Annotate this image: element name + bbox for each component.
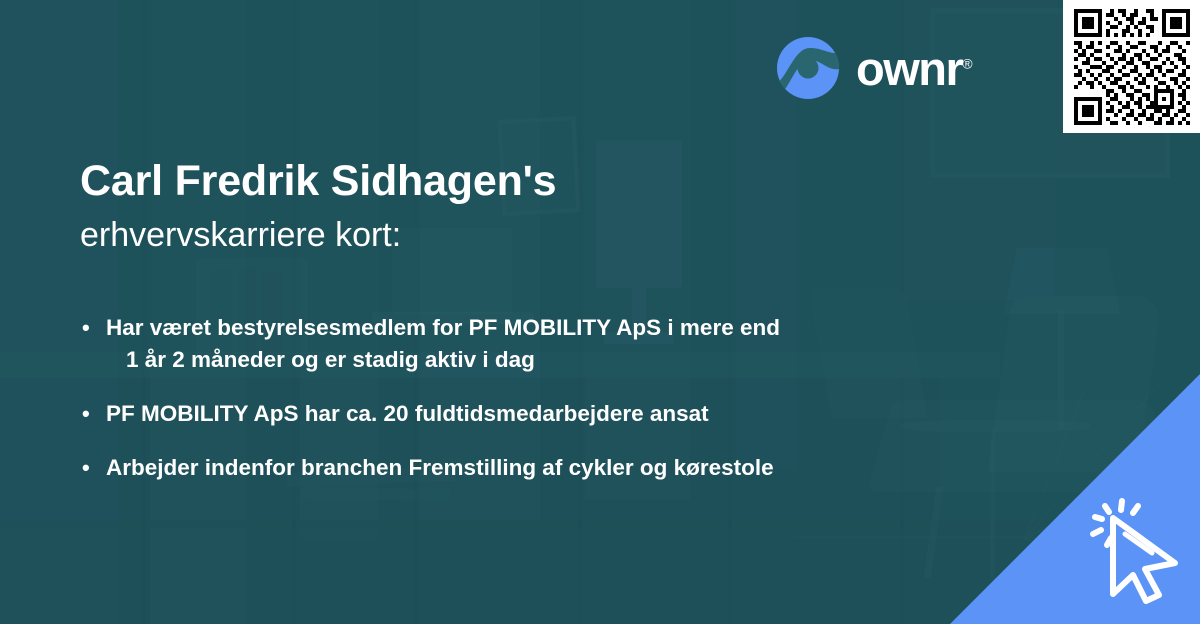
registered-mark: ® <box>962 55 972 71</box>
business-career-card: ownr® Carl Fredrik Sidhagen's erhvervska… <box>0 0 1200 624</box>
headline-line-2: erhvervskarriere kort: <box>80 213 960 257</box>
list-item: PF MOBILITY ApS har ca. 20 fuldtidsmedar… <box>80 398 980 430</box>
ownr-wordmark-text: ownr <box>856 42 962 95</box>
ownr-logo[interactable]: ownr® <box>776 36 973 100</box>
list-item: Har været bestyrelsesmedlem for PF MOBIL… <box>80 312 980 376</box>
list-item-continuation: 1 år 2 måneder og er stadig aktiv i dag <box>106 344 980 376</box>
qr-code-panel[interactable] <box>1063 0 1200 133</box>
career-facts-list: Har været bestyrelsesmedlem for PF MOBIL… <box>80 312 980 506</box>
ownr-circle-swirl-logo-icon <box>776 36 840 100</box>
list-item-text: PF MOBILITY ApS har ca. 20 fuldtidsmedar… <box>106 401 709 426</box>
ownr-wordmark: ownr® <box>856 45 973 92</box>
headline-line-1: Carl Fredrik Sidhagen's <box>80 156 960 207</box>
qr-code[interactable] <box>1072 9 1192 125</box>
list-item: Arbejder indenfor branchen Fremstilling … <box>80 452 980 484</box>
page-title: Carl Fredrik Sidhagen's erhvervskarriere… <box>80 156 960 257</box>
list-item-text: Arbejder indenfor branchen Fremstilling … <box>106 455 774 480</box>
list-item-text: Har været bestyrelsesmedlem for PF MOBIL… <box>106 315 780 340</box>
click-cursor-arrow-icon <box>1062 472 1194 604</box>
